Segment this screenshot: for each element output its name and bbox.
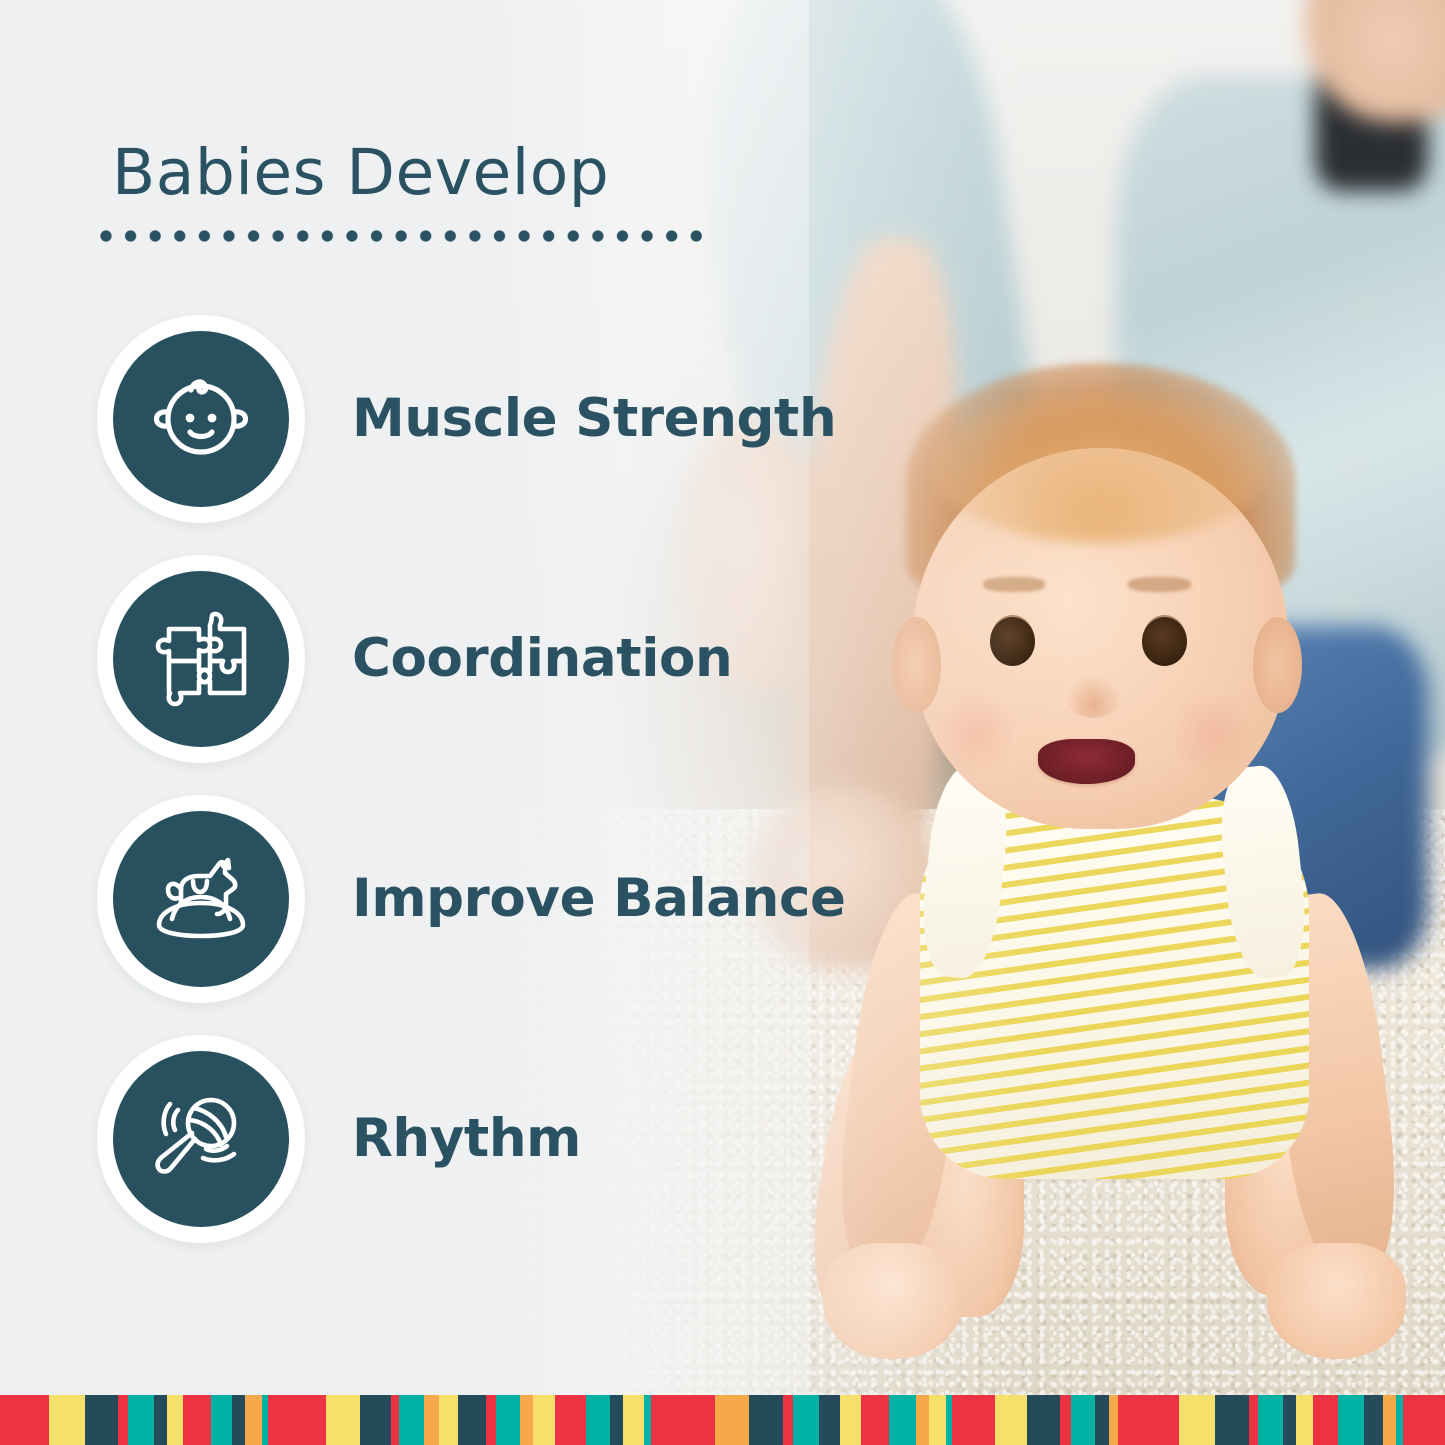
puzzle-pieces-icon [147,605,255,713]
stripe-segment [995,1395,1027,1445]
baby-face-icon [146,364,256,474]
icon-badge-coordination[interactable] [97,555,305,763]
stripe-segment [1027,1395,1059,1445]
stripe-segment [154,1395,167,1445]
stripe-segment [232,1395,245,1445]
stripe-segment [555,1395,585,1445]
icon-badge-improve-balance[interactable] [97,795,305,1003]
benefits-list: Muscle Strength [0,300,1445,1260]
icon-circle [113,1051,289,1227]
benefit-label: Improve Balance [352,868,846,929]
content-layer: Babies Develop [0,0,1445,1445]
list-item[interactable]: Rhythm [0,1020,1445,1260]
icon-circle [113,331,289,507]
stripe-segment [1383,1395,1396,1445]
stripe-segment [861,1395,889,1445]
stripe-segment [486,1395,495,1445]
stripe-segment [793,1395,819,1445]
bottom-stripe-bar [0,1395,1445,1445]
stripe-segment [1060,1395,1071,1445]
stripe-segment [533,1395,556,1445]
stripe-segment [360,1395,390,1445]
stripe-segment [520,1395,532,1445]
stripe-segment [1364,1395,1383,1445]
stripe-segment [749,1395,783,1445]
stripe-segment [1109,1395,1118,1445]
stripe-segment [326,1395,360,1445]
stripe-segment [424,1395,439,1445]
rocking-horse-icon [145,843,257,955]
stripe-segment [715,1395,749,1445]
stripe-segment [128,1395,154,1445]
stripe-segment [840,1395,861,1445]
stripe-segment [1249,1395,1258,1445]
stripe-segment [118,1395,127,1445]
stripe-segment [952,1395,996,1445]
stripe-segment [1313,1395,1338,1445]
baby-rattle-icon [145,1083,257,1195]
stripe-segment [1179,1395,1215,1445]
stripe-segment [496,1395,521,1445]
benefit-label: Rhythm [352,1108,581,1169]
stripe-segment [610,1395,623,1445]
icon-badge-muscle-strength[interactable] [97,315,305,523]
stripe-segment [0,1395,49,1445]
stripe-segment [1283,1395,1296,1445]
stripe-segment [49,1395,85,1445]
stripe-segment [1396,1395,1403,1445]
stripe-segment [651,1395,715,1445]
benefit-label: Coordination [352,628,732,689]
stripe-segment [889,1395,915,1445]
stripe-segment [783,1395,792,1445]
stripe-segment [929,1395,946,1445]
icon-badge-rhythm[interactable] [97,1035,305,1243]
infographic-poster: Babies Develop [0,0,1445,1445]
list-item[interactable]: Muscle Strength [0,300,1445,540]
stripe-segment [1118,1395,1179,1445]
stripe-segment [819,1395,840,1445]
stripe-segment [85,1395,118,1445]
page-title: Babies Develop [112,136,609,209]
stripe-segment [458,1395,486,1445]
stripe-segment [391,1395,400,1445]
stripe-segment [1296,1395,1313,1445]
icon-circle [113,811,289,987]
stripe-segment [1403,1395,1445,1445]
list-item[interactable]: Improve Balance [0,780,1445,1020]
stripe-segment [1095,1395,1108,1445]
stripe-segment [245,1395,262,1445]
stripe-segment [1071,1395,1096,1445]
stripe-segment [1258,1395,1283,1445]
stripe-segment [439,1395,458,1445]
stripe-segment [916,1395,929,1445]
stripe-segment [623,1395,644,1445]
stripe-segment [586,1395,611,1445]
icon-circle [113,571,289,747]
stripe-segment [1338,1395,1364,1445]
stripe-segment [167,1395,182,1445]
stripe-segment [183,1395,211,1445]
stripe-segment [644,1395,651,1445]
stripe-segment [1215,1395,1249,1445]
dotted-divider [100,228,714,244]
stripe-segment [399,1395,424,1445]
stripe-segment [211,1395,232,1445]
stripe-segment [268,1395,327,1445]
list-item[interactable]: Coordination [0,540,1445,780]
benefit-label: Muscle Strength [352,388,836,449]
